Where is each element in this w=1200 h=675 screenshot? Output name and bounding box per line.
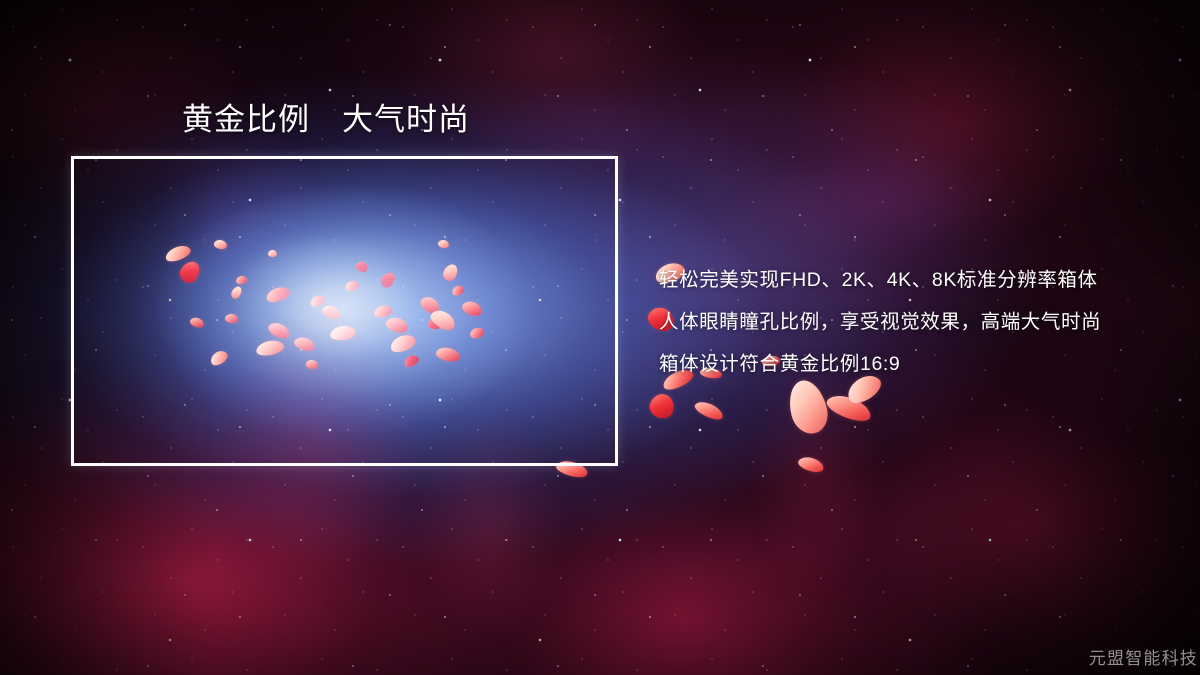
rose-petal (784, 376, 832, 437)
body-text-block: 轻松完美实现FHD、2K、4K、8K标准分辨率箱体 人体眼睛瞳孔比例，享受视觉效… (659, 259, 1179, 385)
photo-frame (71, 156, 618, 466)
body-text-line-3: 箱体设计符合黄金比例16:9 (659, 343, 1179, 385)
body-text-line-1: 轻松完美实现FHD、2K、4K、8K标准分辨率箱体 (659, 259, 1179, 301)
rose-petal (647, 391, 677, 421)
rose-petal (797, 455, 826, 475)
rose-petal (693, 398, 726, 422)
rose-petal (824, 391, 874, 426)
body-text-line-2: 人体眼睛瞳孔比例，享受视觉效果，高端大气时尚 (659, 301, 1179, 343)
page-title: 黄金比例 大气时尚 (182, 101, 470, 139)
presentation-slide: 黄金比例 大气时尚 轻松完美实现FHD、2K、4K、8K标准分辨率箱体 人体眼睛… (0, 0, 1200, 675)
galaxy-core-glow (74, 159, 615, 463)
photo-frame-inner (74, 159, 615, 463)
watermark: 元盟智能科技 (1089, 649, 1198, 669)
